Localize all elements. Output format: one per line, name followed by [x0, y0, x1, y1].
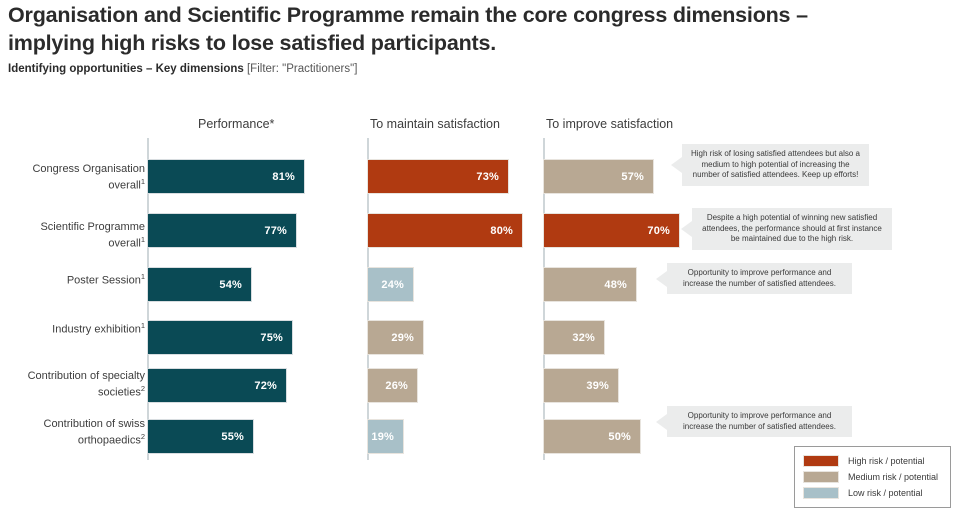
legend-item: Low risk / potential [803, 485, 942, 501]
row-label-footnote-marker: 1 [141, 321, 145, 330]
bar-value-label: 57% [621, 171, 653, 183]
legend-color-swatch [803, 471, 839, 483]
bar-value-label: 55% [221, 431, 253, 443]
bar-performance: 55% [147, 419, 254, 454]
bar-value-label: 80% [490, 225, 522, 237]
row-label: Contribution of specialty societies2 [3, 370, 145, 400]
bar-value-label: 24% [381, 279, 413, 291]
column-header-maintain: To maintain satisfaction [370, 117, 500, 131]
row-label: Scientific Programme overall1 [3, 221, 145, 251]
bar-value-label: 39% [586, 380, 618, 392]
bar-improve: 57% [543, 159, 654, 194]
callout-pointer-icon [656, 271, 667, 287]
bar-performance: 77% [147, 213, 297, 248]
bar-improve: 70% [543, 213, 680, 248]
callout-text: Opportunity to improve performance and i… [683, 268, 836, 288]
slide-canvas: Organisation and Scientific Programme re… [0, 0, 957, 524]
bar-value-label: 75% [260, 332, 292, 344]
row-label-text: Poster Session [67, 275, 141, 287]
bar-value-label: 72% [254, 380, 286, 392]
row-label: Contribution of swiss orthopaedics2 [3, 418, 145, 448]
bar-value-label: 77% [264, 225, 296, 237]
bar-value-label: 32% [572, 332, 604, 344]
bar-maintain: 80% [367, 213, 523, 248]
bar-performance: 72% [147, 368, 287, 403]
legend-label: Low risk / potential [848, 488, 923, 498]
bar-value-label: 70% [647, 225, 679, 237]
bar-maintain: 19% [367, 419, 404, 454]
legend-color-swatch [803, 487, 839, 499]
bar-value-label: 19% [371, 431, 403, 443]
bar-value-label: 54% [219, 279, 251, 291]
row-label-column: Congress Organisation overall1Scientific… [0, 0, 145, 524]
callout-box: Opportunity to improve performance and i… [667, 406, 852, 437]
row-label-text: Industry exhibition [52, 324, 141, 336]
legend-label: High risk / potential [848, 456, 925, 466]
bar-maintain: 73% [367, 159, 509, 194]
callout-box: High risk of losing satisfied attendees … [682, 144, 869, 186]
bar-value-label: 48% [604, 279, 636, 291]
bar-improve: 32% [543, 320, 605, 355]
row-label-footnote-marker: 1 [141, 235, 145, 244]
bar-value-label: 81% [272, 171, 304, 183]
legend-label: Medium risk / potential [848, 472, 938, 482]
row-label: Congress Organisation overall1 [3, 163, 145, 193]
callout-text: Despite a high potential of winning new … [702, 213, 882, 243]
bar-value-label: 50% [608, 431, 640, 443]
legend-color-swatch [803, 455, 839, 467]
bar-improve: 39% [543, 368, 619, 403]
subtitle-filter: [Filter: "Practitioners"] [247, 63, 357, 75]
callout-box: Opportunity to improve performance and i… [667, 263, 852, 294]
row-label-footnote-marker: 2 [141, 384, 145, 393]
callout-pointer-icon [671, 157, 682, 173]
bar-improve: 50% [543, 419, 641, 454]
callout-pointer-icon [656, 414, 667, 430]
row-label-text: Contribution of swiss orthopaedics [44, 418, 146, 446]
row-label-text: Contribution of specialty societies [28, 370, 145, 398]
bar-value-label: 26% [385, 380, 417, 392]
legend-item: High risk / potential [803, 453, 942, 469]
bar-value-label: 29% [391, 332, 423, 344]
row-label: Industry exhibition1 [3, 321, 145, 337]
bar-performance: 54% [147, 267, 252, 302]
callout-pointer-icon [681, 221, 692, 237]
row-label-footnote-marker: 2 [141, 432, 145, 441]
callout-text: High risk of losing satisfied attendees … [691, 149, 860, 179]
column-header-improve: To improve satisfaction [546, 117, 673, 131]
bar-maintain: 24% [367, 267, 414, 302]
row-label-footnote-marker: 1 [141, 272, 145, 281]
column-header-performance: Performance* [198, 117, 274, 131]
bar-performance: 75% [147, 320, 293, 355]
row-label-text: Scientific Programme overall [40, 221, 145, 249]
bar-maintain: 29% [367, 320, 424, 355]
bar-performance: 81% [147, 159, 305, 194]
callout-text: Opportunity to improve performance and i… [683, 411, 836, 431]
legend: High risk / potentialMedium risk / poten… [794, 446, 951, 508]
chart-panel-performance: 81%77%54%75%72%55% [147, 138, 347, 460]
bar-value-label: 73% [476, 171, 508, 183]
callout-box: Despite a high potential of winning new … [692, 208, 892, 250]
bar-maintain: 26% [367, 368, 418, 403]
bar-improve: 48% [543, 267, 637, 302]
row-label-text: Congress Organisation overall [32, 163, 145, 191]
chart-panel-maintain: 73%80%24%29%26%19% [367, 138, 535, 460]
row-label-footnote-marker: 1 [141, 177, 145, 186]
legend-item: Medium risk / potential [803, 469, 942, 485]
row-label: Poster Session1 [3, 272, 145, 288]
